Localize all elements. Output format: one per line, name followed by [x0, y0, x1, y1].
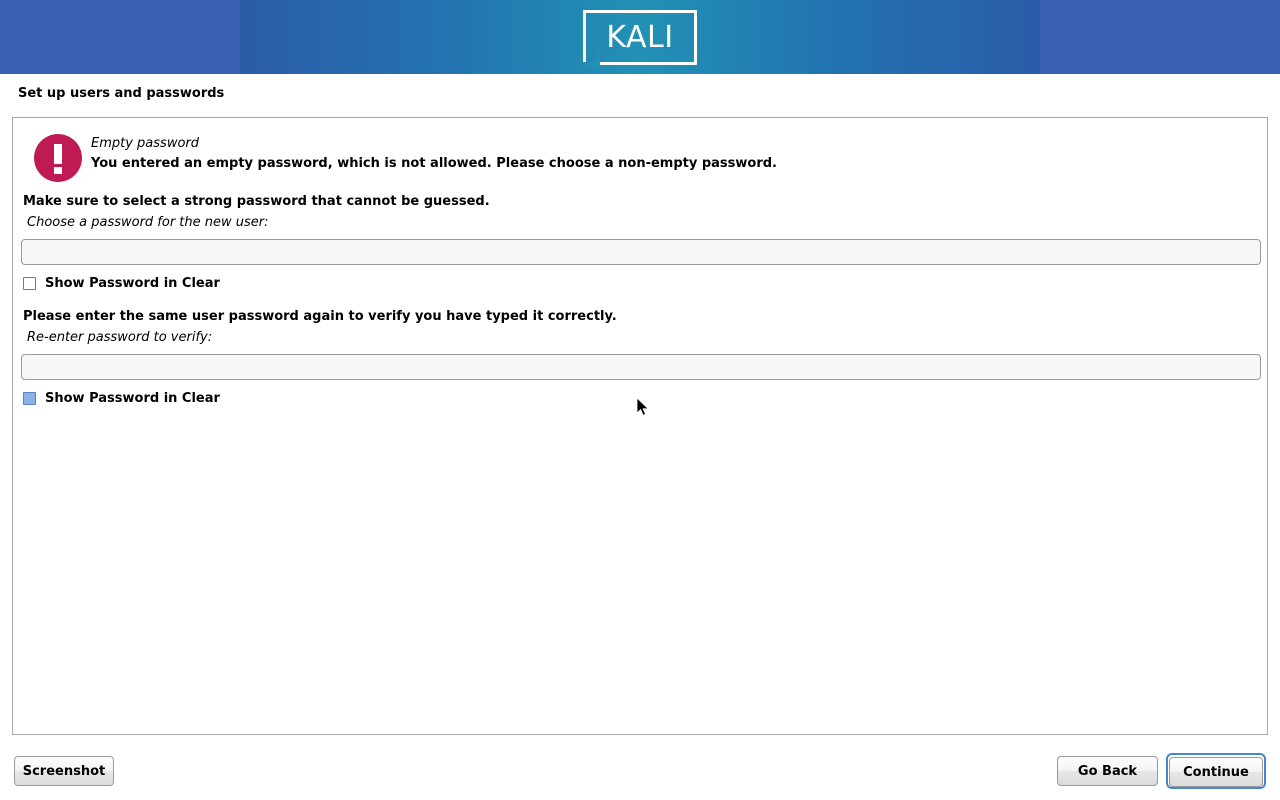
kali-logo-text: KALI	[583, 10, 697, 65]
kali-logo: KALI	[583, 10, 697, 65]
error-message: You entered an empty password, which is …	[91, 156, 777, 171]
continue-button-focus-ring: Continue	[1166, 753, 1266, 789]
strong-password-hint: Make sure to select a strong password th…	[23, 194, 490, 209]
verify-password-hint: Please enter the same user password agai…	[23, 309, 617, 324]
page-title: Set up users and passwords	[18, 86, 224, 101]
error-title: Empty password	[91, 136, 199, 151]
kali-banner: KALI	[0, 0, 1280, 74]
password-field-label: Choose a password for the new user:	[27, 215, 269, 230]
screenshot-button[interactable]: Screenshot	[14, 756, 114, 786]
show-password-row-1[interactable]: Show Password in Clear	[23, 276, 220, 291]
show-password-label-2: Show Password in Clear	[45, 391, 220, 406]
exclamation-dot	[54, 167, 62, 174]
go-back-button[interactable]: Go Back	[1057, 756, 1158, 786]
show-password-checkbox-2[interactable]	[23, 392, 36, 405]
show-password-checkbox-1[interactable]	[23, 277, 36, 290]
error-exclamation-icon	[34, 134, 82, 182]
verify-password-input[interactable]	[21, 354, 1261, 380]
show-password-label-1: Show Password in Clear	[45, 276, 220, 291]
exclamation-stem	[54, 144, 62, 164]
show-password-row-2[interactable]: Show Password in Clear	[23, 391, 220, 406]
main-content-panel: Empty password You entered an empty pass…	[12, 117, 1268, 735]
continue-button[interactable]: Continue	[1169, 757, 1263, 787]
verify-field-label: Re-enter password to verify:	[27, 330, 212, 345]
error-notice: Empty password You entered an empty pass…	[22, 127, 1252, 189]
password-input[interactable]	[21, 239, 1261, 265]
